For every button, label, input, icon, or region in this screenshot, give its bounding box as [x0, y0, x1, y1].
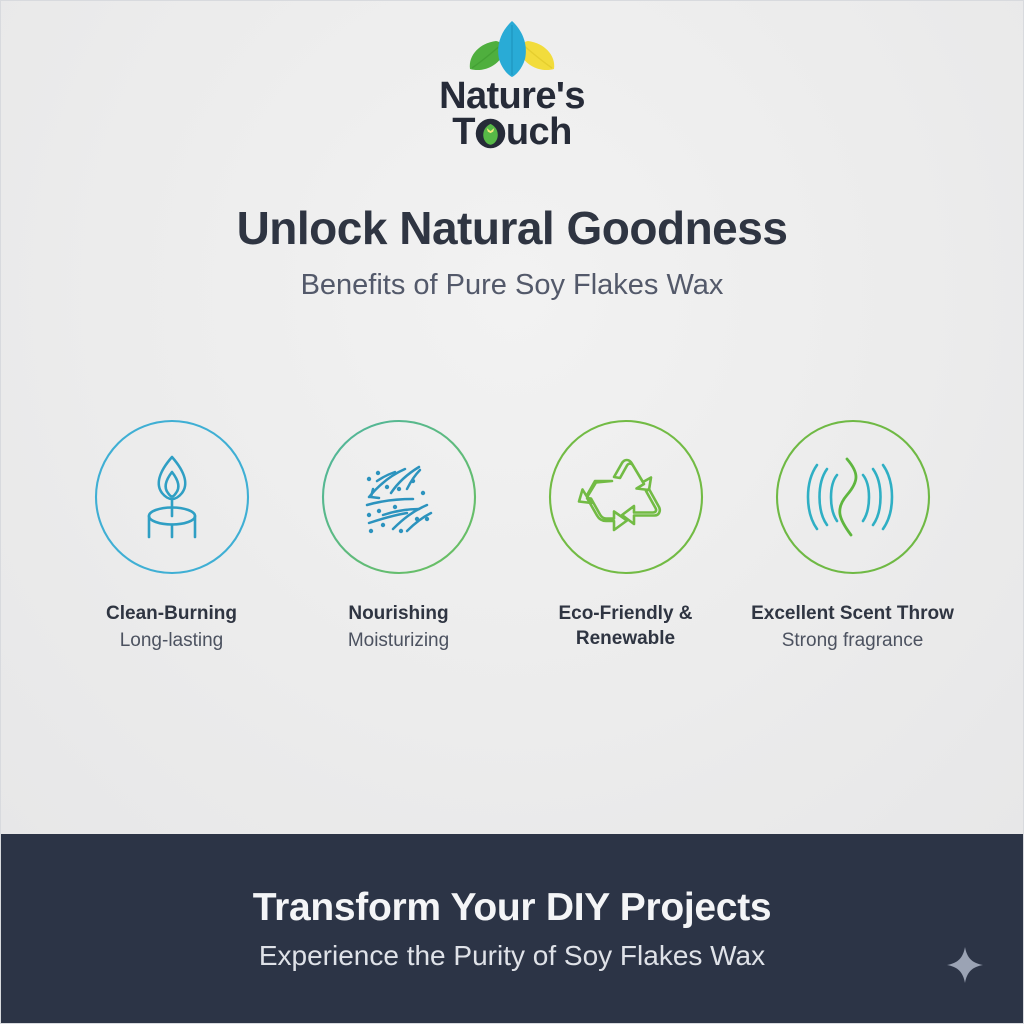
scent-waves-icon [775, 419, 931, 575]
page-subtitle: Benefits of Pure Soy Flakes Wax [1, 269, 1023, 302]
feature-title: Nourishing [348, 601, 448, 626]
recycle-icon [548, 419, 704, 575]
feature-list: Clean-Burning Long-lasting [58, 419, 966, 654]
brand-name-line-2: T uch [452, 115, 571, 151]
candle-flame-icon [94, 419, 250, 575]
brand-name-line-1: Nature's [439, 79, 585, 115]
feature-title: Excellent Scent Throw [751, 601, 954, 626]
brand-name-line-2-suffix: uch [506, 115, 572, 151]
leaf-circle-o-icon [475, 118, 506, 149]
page-title: Unlock Natural Goodness [1, 201, 1023, 255]
feature-item-scent-throw: Excellent Scent Throw Strong fragrance [739, 419, 966, 654]
feature-item-nourishing: Nourishing Moisturizing [285, 419, 512, 654]
moisture-waves-icon [321, 419, 477, 575]
four-point-star-icon [945, 945, 985, 985]
feature-item-clean-burning: Clean-Burning Long-lasting [58, 419, 285, 654]
brand-wordmark: Nature's T uch [439, 79, 585, 150]
feature-title: Eco-Friendly & Renewable [551, 601, 701, 652]
feature-subtitle: Moisturizing [348, 628, 449, 653]
feature-subtitle: Long-lasting [120, 628, 224, 653]
brand-logo: Nature's T uch [1, 19, 1023, 150]
feature-title: Clean-Burning [106, 601, 237, 626]
three-leaves-icon [452, 19, 572, 81]
infographic-poster: Nature's T uch Unlock Natural Goodness B… [0, 0, 1024, 1024]
feature-item-eco-friendly: Eco-Friendly & Renewable [512, 419, 739, 654]
footer-subtitle: Experience the Purity of Soy Flakes Wax [259, 940, 765, 972]
feature-subtitle: Strong fragrance [782, 628, 924, 653]
brand-name-line-2-prefix: T [452, 115, 475, 151]
footer-title: Transform Your DIY Projects [253, 886, 772, 930]
footer-banner: Transform Your DIY Projects Experience t… [1, 834, 1023, 1023]
